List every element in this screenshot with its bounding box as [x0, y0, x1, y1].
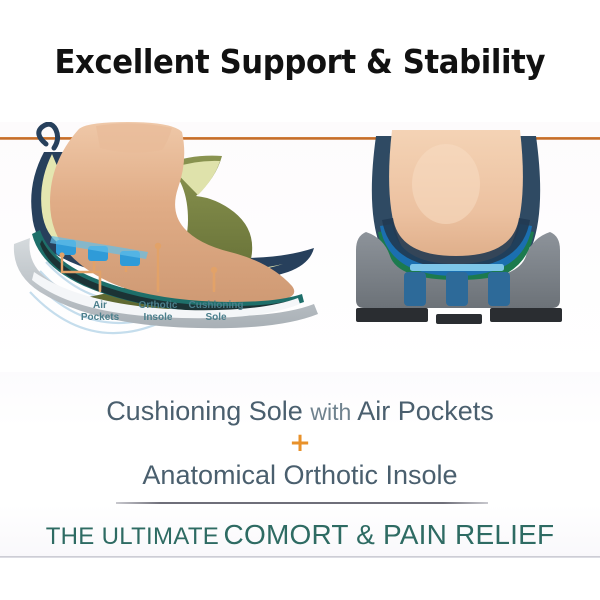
footer-space — [0, 558, 600, 600]
benefit-line-one: Cushioning Sole with Air Pockets — [0, 396, 600, 427]
tagline: THE ULTIMATE COMORT & PAIN RELIEF — [0, 519, 600, 551]
svg-text:Air: Air — [93, 300, 107, 311]
heel-highlight — [412, 144, 480, 224]
callout-label-orthotic-insole: Orthotic Insole — [139, 300, 178, 323]
benefit-line-two: Anatomical Orthotic Insole — [0, 460, 600, 491]
tread-pads — [356, 308, 562, 324]
illustration-band: Air Pockets Orthotic Insole Cushioning S… — [0, 122, 600, 372]
tagline-main: COMORT & PAIN RELIEF — [224, 519, 555, 550]
benefit-air-pockets: Air Pockets — [357, 396, 494, 426]
foot-sandal-side-cutaway-figure: Air Pockets Orthotic Insole Cushioning S… — [0, 122, 320, 372]
section-divider — [116, 502, 488, 504]
svg-text:Sole: Sole — [205, 312, 227, 323]
benefit-connector: with — [310, 399, 351, 425]
ankle-shade — [96, 123, 172, 152]
ankle-strap — [39, 124, 58, 148]
page-title: Excellent Support & Stability — [55, 42, 546, 81]
svg-text:Orthotic: Orthotic — [139, 300, 178, 311]
rear-air-pocket-blocks — [404, 272, 510, 306]
svg-text:Pockets: Pockets — [81, 312, 120, 323]
air-channel-strip — [410, 264, 504, 271]
tagline-prefix: THE ULTIMATE — [46, 523, 219, 550]
benefits-copy-panel: Cushioning Sole with Air Pockets + Anato… — [0, 372, 600, 557]
benefit-orthotic-insole: Anatomical Orthotic Insole — [142, 460, 457, 490]
headline-banner: Excellent Support & Stability — [0, 0, 600, 122]
svg-text:Insole: Insole — [144, 312, 173, 323]
benefit-cushioning-sole: Cushioning Sole — [106, 396, 303, 426]
heel-rear-view-cutaway-figure — [318, 122, 600, 372]
plus-icon: + — [0, 430, 600, 456]
svg-text:Cushioning: Cushioning — [189, 300, 244, 311]
